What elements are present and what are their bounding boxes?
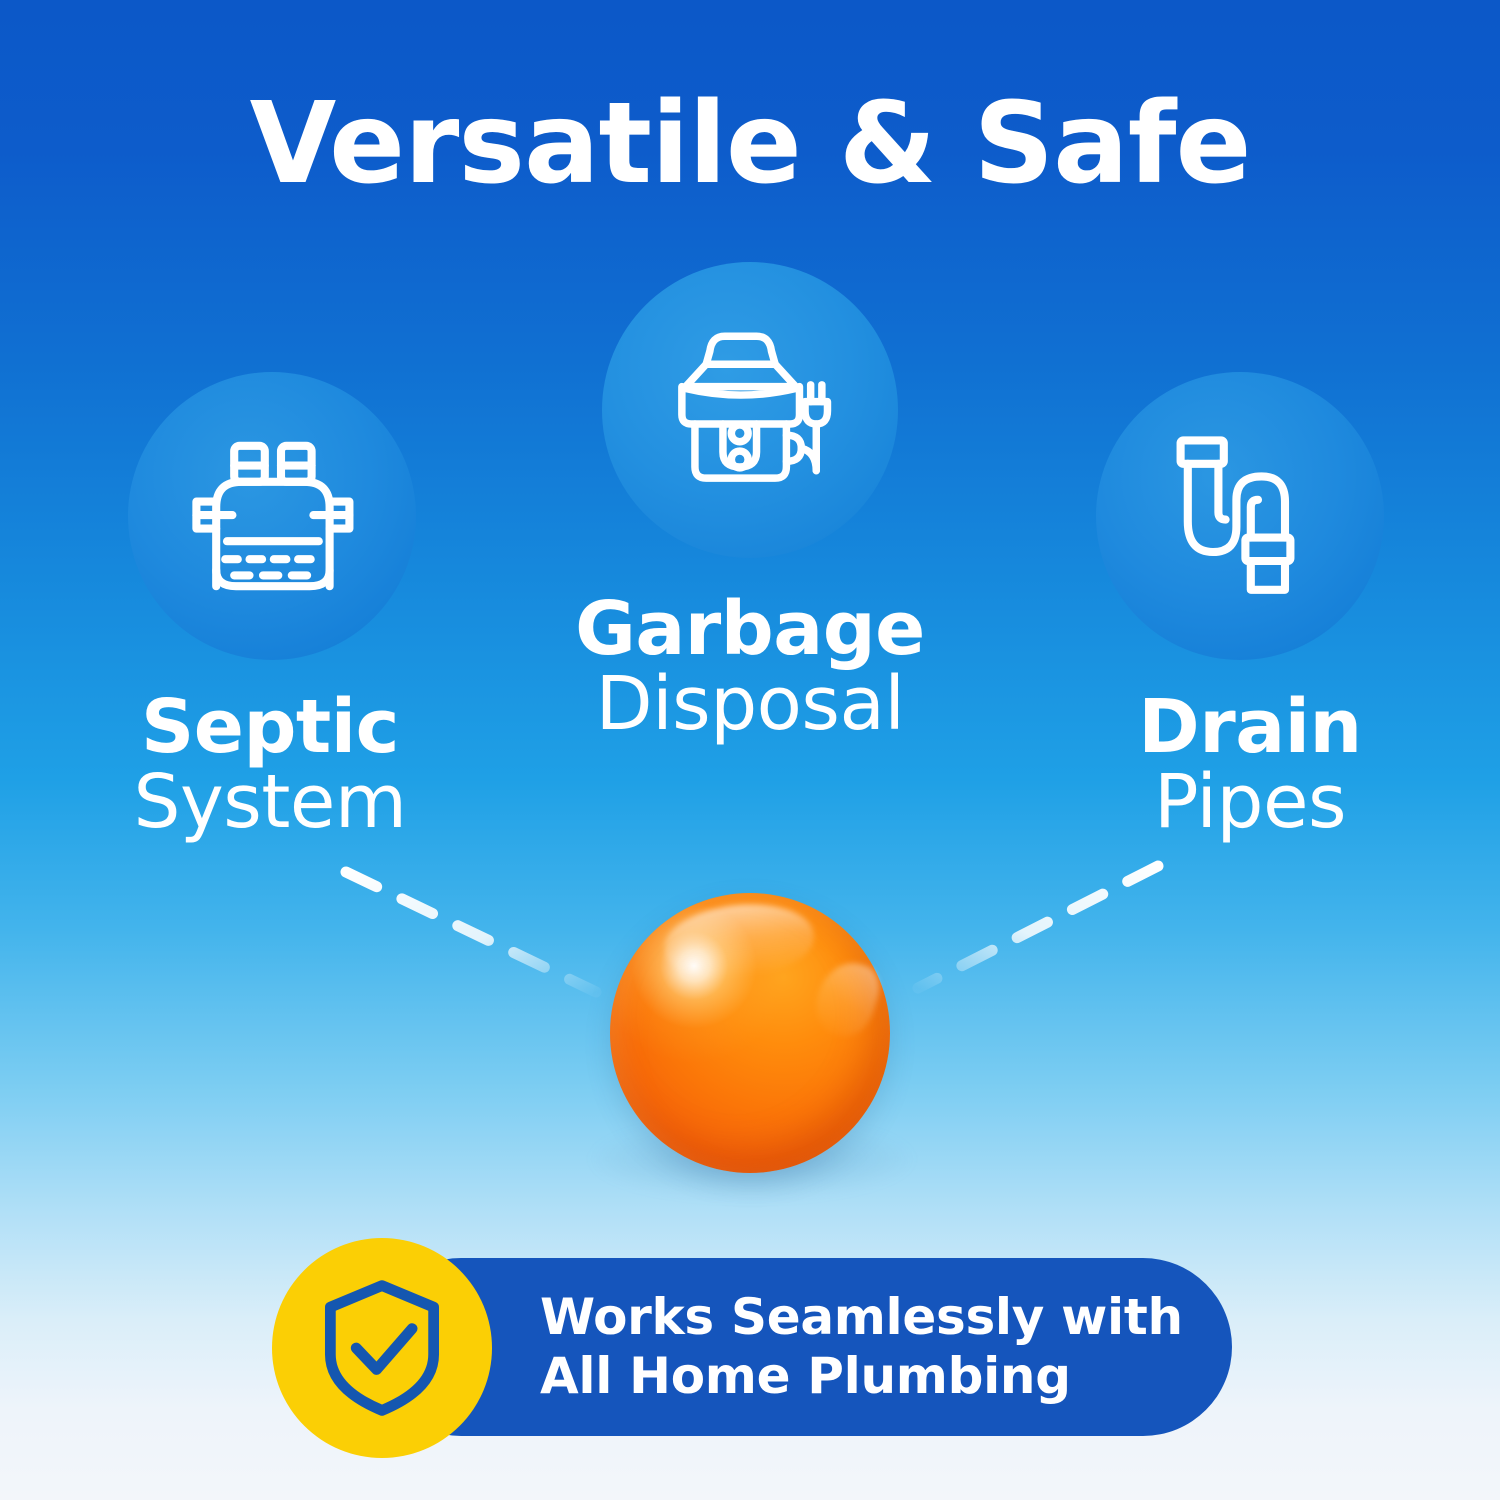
feature-label-septic: Septic System xyxy=(30,690,510,841)
feature-label-drain-light: Pipes xyxy=(1010,765,1490,840)
feature-circle-septic[interactable] xyxy=(128,372,416,660)
septic-tank-icon xyxy=(182,426,362,606)
feature-circle-garbage-disposal[interactable] xyxy=(602,262,898,558)
feature-label-septic-light: System xyxy=(30,765,510,840)
bottom-banner-line1: Works Seamlessly with xyxy=(540,1288,1183,1347)
bottom-banner-line2: All Home Plumbing xyxy=(540,1347,1183,1406)
connector-drain xyxy=(918,866,1158,988)
bottom-banner: Works Seamlessly with All Home Plumbing xyxy=(372,1258,1232,1436)
drain-pipe-icon xyxy=(1150,426,1330,606)
connector-septic xyxy=(346,872,596,992)
feature-label-septic-strong: Septic xyxy=(30,690,510,765)
feature-label-disposal-light: Disposal xyxy=(510,667,990,742)
bottom-banner-text: Works Seamlessly with All Home Plumbing xyxy=(540,1288,1183,1406)
feature-label-garbage-disposal: Garbage Disposal xyxy=(510,592,990,743)
shield-badge xyxy=(272,1238,492,1458)
garbage-disposal-icon xyxy=(652,312,848,508)
feature-label-drain-strong: Drain xyxy=(1010,690,1490,765)
shield-check-icon xyxy=(316,1277,448,1419)
feature-label-disposal-strong: Garbage xyxy=(510,592,990,667)
feature-circle-drain-pipes[interactable] xyxy=(1096,372,1384,660)
infographic-canvas: Versatile & Safe xyxy=(0,0,1500,1500)
feature-label-drain-pipes: Drain Pipes xyxy=(1010,690,1490,841)
